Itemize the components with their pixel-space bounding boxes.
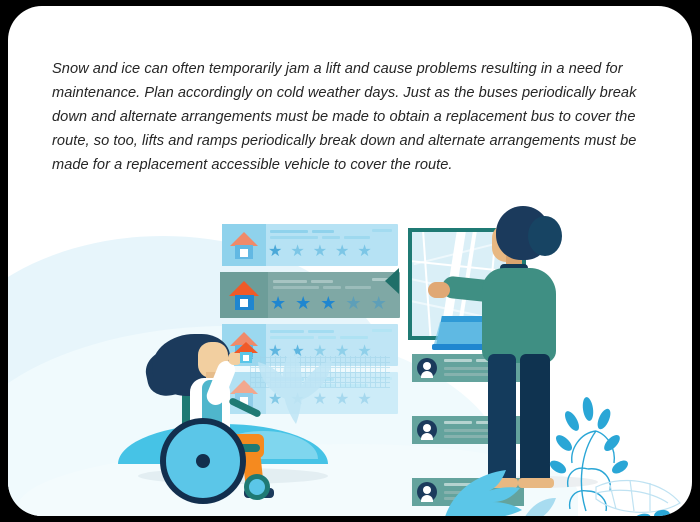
listing-text-placeholder — [270, 236, 318, 239]
decorative-leaf-pale — [252, 306, 342, 426]
wheelchair-hub — [196, 454, 210, 468]
star-rating[interactable]: ★ ★ ★ ★ ★ — [268, 244, 372, 260]
listing-title-placeholder — [273, 280, 307, 283]
star-icon[interactable]: ★ — [313, 244, 327, 260]
star-icon[interactable]: ★ — [345, 295, 361, 311]
avatar-icon — [417, 420, 437, 440]
listing-thumbnail — [222, 224, 266, 266]
avatar-icon — [417, 358, 437, 378]
listing-text-placeholder — [323, 286, 341, 289]
body-paragraph: Snow and ice can often temporarily jam a… — [52, 57, 652, 178]
listing-text-placeholder — [344, 236, 370, 239]
person-hand — [428, 282, 450, 298]
illustration: ★ ★ ★ ★ ★ — [8, 176, 692, 516]
star-icon[interactable]: ★ — [268, 244, 282, 260]
listing-title-placeholder — [312, 230, 334, 233]
star-icon[interactable]: ★ — [357, 244, 371, 260]
decorative-foliage — [538, 391, 688, 516]
star-icon[interactable]: ★ — [371, 295, 387, 311]
house-roof-icon — [230, 232, 258, 246]
listing-text-placeholder — [345, 286, 371, 289]
star-icon[interactable]: ★ — [290, 244, 304, 260]
person-torso — [482, 268, 556, 363]
house-window-icon — [240, 249, 248, 257]
listing-meta-placeholder — [372, 329, 392, 332]
person-hair-bun — [528, 216, 562, 256]
listing-title-placeholder — [311, 280, 333, 283]
listing-card-1[interactable]: ★ ★ ★ ★ ★ — [222, 224, 398, 266]
star-icon[interactable]: ★ — [335, 244, 349, 260]
content-card: Snow and ice can often temporarily jam a… — [8, 6, 692, 516]
house-roof-icon — [229, 281, 259, 296]
star-icon[interactable]: ★ — [357, 392, 371, 408]
selection-arrow-icon — [385, 268, 399, 294]
listing-title-placeholder — [270, 230, 308, 233]
listing-text-placeholder — [340, 336, 368, 339]
listing-meta-placeholder — [372, 229, 392, 232]
wheelchair-caster-wheel — [244, 474, 270, 500]
listing-text-placeholder — [273, 286, 319, 289]
house-window-icon — [240, 299, 248, 307]
listing-text-placeholder — [322, 236, 340, 239]
decorative-leaf — [438, 456, 558, 516]
avatar-icon — [417, 482, 437, 502]
